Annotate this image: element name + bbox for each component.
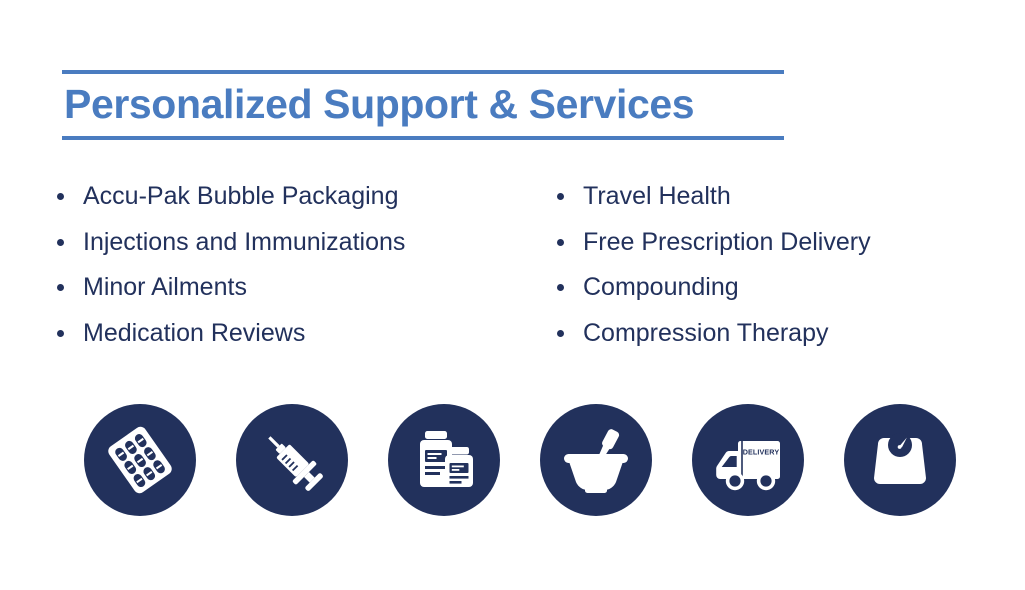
weight-scale-icon: [862, 422, 938, 498]
list-item-label: Minor Ailments: [83, 273, 247, 301]
list-item-label: Accu-Pak Bubble Packaging: [83, 182, 398, 210]
bullet-dot-icon: [557, 239, 564, 246]
slide-canvas: Personalized Support & Services Accu-Pak…: [0, 0, 1025, 590]
list-item: Travel Health: [552, 180, 1022, 213]
list-item: Compounding: [552, 271, 1022, 304]
list-item-label: Compounding: [583, 273, 739, 301]
icon-badge-pill-bottles: [388, 404, 500, 516]
icon-badge-blister-pack: [84, 404, 196, 516]
list-item: Accu-Pak Bubble Packaging: [52, 180, 542, 213]
bullet-dot-icon: [557, 284, 564, 291]
syringe-icon: [254, 422, 330, 498]
mortar-pestle-icon: [557, 421, 635, 499]
bullet-dot-icon: [557, 330, 564, 337]
icon-badge-syringe: [236, 404, 348, 516]
bullet-dot-icon: [57, 239, 64, 246]
list-item: Medication Reviews: [52, 317, 542, 350]
bullet-dot-icon: [57, 193, 64, 200]
blister-pack-icon: [102, 422, 178, 498]
icon-badge-mortar-pestle: [540, 404, 652, 516]
list-item-label: Injections and Immunizations: [83, 228, 405, 256]
bullet-dot-icon: [57, 330, 64, 337]
services-lists: Accu-Pak Bubble Packaging Injections and…: [0, 180, 1025, 362]
list-item-label: Compression Therapy: [583, 319, 828, 347]
list-item: Minor Ailments: [52, 271, 542, 304]
services-list-left: Accu-Pak Bubble Packaging Injections and…: [0, 180, 542, 362]
list-item: Compression Therapy: [552, 317, 1022, 350]
icon-badge-delivery-van: DELIVERY: [692, 404, 804, 516]
title-rule-bottom: [62, 136, 784, 140]
bullet-dot-icon: [557, 193, 564, 200]
pill-bottles-icon: [406, 422, 482, 498]
heading-block: Personalized Support & Services: [62, 70, 784, 140]
list-item: Free Prescription Delivery: [552, 226, 1022, 259]
service-icon-row: DELIVERY: [84, 404, 964, 516]
bullet-dot-icon: [57, 284, 64, 291]
list-item: Injections and Immunizations: [52, 226, 542, 259]
list-item-label: Medication Reviews: [83, 319, 305, 347]
list-item-label: Free Prescription Delivery: [583, 228, 871, 256]
services-list-right: Travel Health Free Prescription Delivery…: [542, 180, 1022, 362]
list-item-label: Travel Health: [583, 182, 731, 210]
page-title: Personalized Support & Services: [62, 82, 784, 130]
delivery-van-text: DELIVERY: [743, 447, 780, 456]
icon-badge-weight-scale: [844, 404, 956, 516]
delivery-van-icon: DELIVERY: [708, 420, 788, 500]
title-rule-top: [62, 70, 784, 74]
